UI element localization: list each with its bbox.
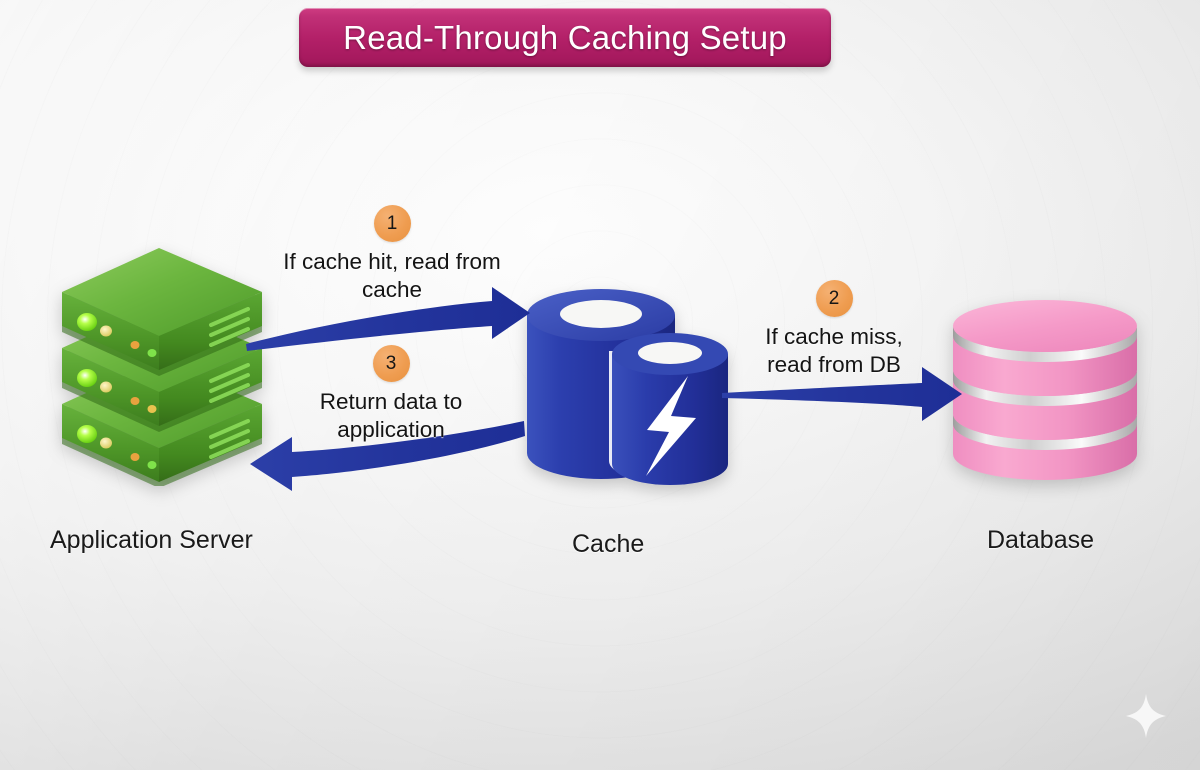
label-application-server: Application Server bbox=[50, 526, 253, 555]
title-banner: Read-Through Caching Setup bbox=[299, 8, 831, 67]
page-title: Read-Through Caching Setup bbox=[343, 19, 787, 57]
step-badge-3: 3 bbox=[373, 345, 410, 382]
green-server-stack-icon bbox=[56, 238, 268, 486]
cache-cylinder-small bbox=[609, 333, 728, 485]
pink-database-cylinder-icon bbox=[945, 296, 1145, 484]
step-text-1: If cache hit, read from cache bbox=[283, 248, 501, 304]
blue-cache-cylinders-icon bbox=[506, 278, 738, 490]
slide-canvas: Read-Through Caching Setup bbox=[0, 0, 1200, 770]
label-cache: Cache bbox=[572, 530, 644, 559]
label-database: Database bbox=[987, 526, 1094, 555]
sparkle-icon bbox=[1126, 694, 1166, 738]
step-text-2: If cache miss, read from DB bbox=[765, 323, 903, 379]
step-annotation-3: 3 Return data to application bbox=[286, 345, 496, 444]
step-annotation-1: 1 If cache hit, read from cache bbox=[252, 205, 532, 304]
step-badge-2: 2 bbox=[816, 280, 853, 317]
step-text-3: Return data to application bbox=[320, 388, 463, 444]
step-annotation-2: 2 If cache miss, read from DB bbox=[748, 280, 920, 379]
step-badge-1: 1 bbox=[374, 205, 411, 242]
